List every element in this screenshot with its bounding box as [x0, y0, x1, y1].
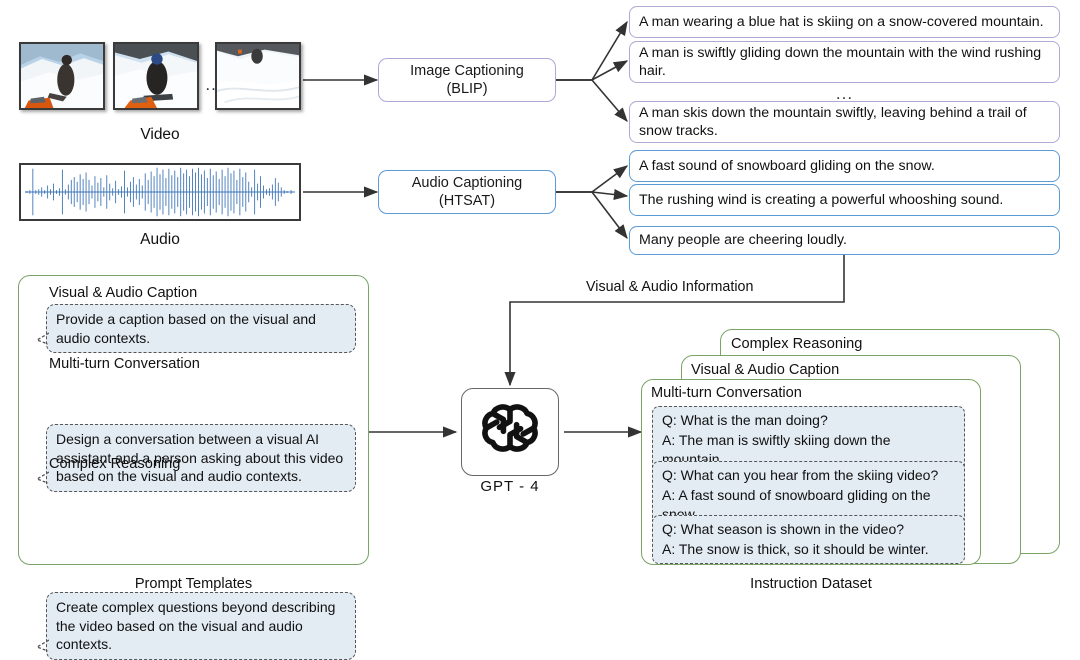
prompt-group-2-title: Multi-turn Conversation — [49, 356, 200, 372]
openai-logo-icon — [477, 397, 543, 468]
visual-caption-3: A man skis down the mountain swiftly, le… — [629, 101, 1060, 143]
prompt-templates-footer-label: Prompt Templates — [18, 576, 369, 592]
audio-captioning-title: Audio Captioning — [412, 174, 522, 192]
video-frame-1 — [19, 42, 105, 110]
audio-caption-3: Many people are cheering loudly. — [629, 226, 1060, 255]
video-frame-2 — [113, 42, 199, 110]
prompt-group-3-title: Complex Reasoning — [49, 456, 180, 472]
qa-pair-3-answer: A: The snow is thick, so it should be wi… — [662, 540, 955, 560]
visual-caption-3-text: A man skis down the mountain swiftly, le… — [639, 104, 1050, 140]
audio-caption-3-text: Many people are cheering loudly. — [639, 231, 847, 249]
audio-captioning-module[interactable]: Audio Captioning (HTSAT) — [378, 170, 556, 214]
dataset-card-visual-audio-caption-title: Visual & Audio Caption — [691, 362, 839, 378]
bubble-tail-icon — [36, 471, 49, 484]
instruction-dataset-footer-label: Instruction Dataset — [641, 576, 981, 592]
prompt-group-1-text: Provide a caption based on the visual an… — [56, 311, 316, 346]
qa-pair-1-question: Q: What is the man doing? — [662, 411, 955, 431]
visual-caption-1: A man wearing a blue hat is skiing on a … — [629, 6, 1060, 38]
visual-audio-information-label: Visual & Audio Information — [582, 279, 757, 295]
diagram-canvas: ... Video — [0, 0, 1080, 601]
prompt-group-1-title: Visual & Audio Caption — [49, 285, 197, 301]
visual-caption-1-text: A man wearing a blue hat is skiing on a … — [639, 13, 1044, 31]
prompt-group-1-bubble: Provide a caption based on the visual an… — [46, 304, 356, 353]
prompt-group-3-bubble: Create complex questions beyond describi… — [46, 592, 356, 660]
bubble-tail-icon — [36, 332, 49, 345]
audio-caption-2-text: The rushing wind is creating a powerful … — [639, 191, 1003, 209]
video-label: Video — [19, 126, 301, 144]
audio-captioning-subtitle: (HTSAT) — [412, 192, 522, 210]
image-captioning-module[interactable]: Image Captioning (BLIP) — [378, 58, 556, 102]
bubble-tail-icon — [36, 639, 49, 652]
gpt4-label: GPT - 4 — [461, 478, 559, 495]
qa-pair-3-question: Q: What season is shown in the video? — [662, 520, 955, 540]
video-frame-3 — [215, 42, 301, 110]
audio-caption-1: A fast sound of snowboard gliding on the… — [629, 150, 1060, 182]
visual-caption-2: A man is swiftly gliding down the mounta… — [629, 41, 1060, 83]
prompt-group-3-text: Create complex questions beyond describi… — [56, 599, 335, 652]
image-captioning-title: Image Captioning — [410, 62, 524, 80]
visual-captions-ellipsis: ... — [629, 85, 1060, 102]
audio-label: Audio — [19, 231, 301, 249]
dataset-card-multiturn-conversation-title: Multi-turn Conversation — [651, 385, 802, 401]
gpt4-box[interactable] — [461, 388, 559, 476]
qa-pair-2-question: Q: What can you hear from the skiing vid… — [662, 466, 955, 486]
image-captioning-subtitle: (BLIP) — [410, 80, 524, 98]
audio-caption-2: The rushing wind is creating a powerful … — [629, 184, 1060, 216]
visual-caption-2-text: A man is swiftly gliding down the mounta… — [639, 44, 1050, 80]
audio-caption-1-text: A fast sound of snowboard gliding on the… — [639, 157, 935, 175]
audio-waveform — [19, 163, 301, 221]
dataset-card-complex-reasoning-title: Complex Reasoning — [731, 336, 862, 352]
qa-pair-3: Q: What season is shown in the video? A:… — [652, 515, 965, 564]
